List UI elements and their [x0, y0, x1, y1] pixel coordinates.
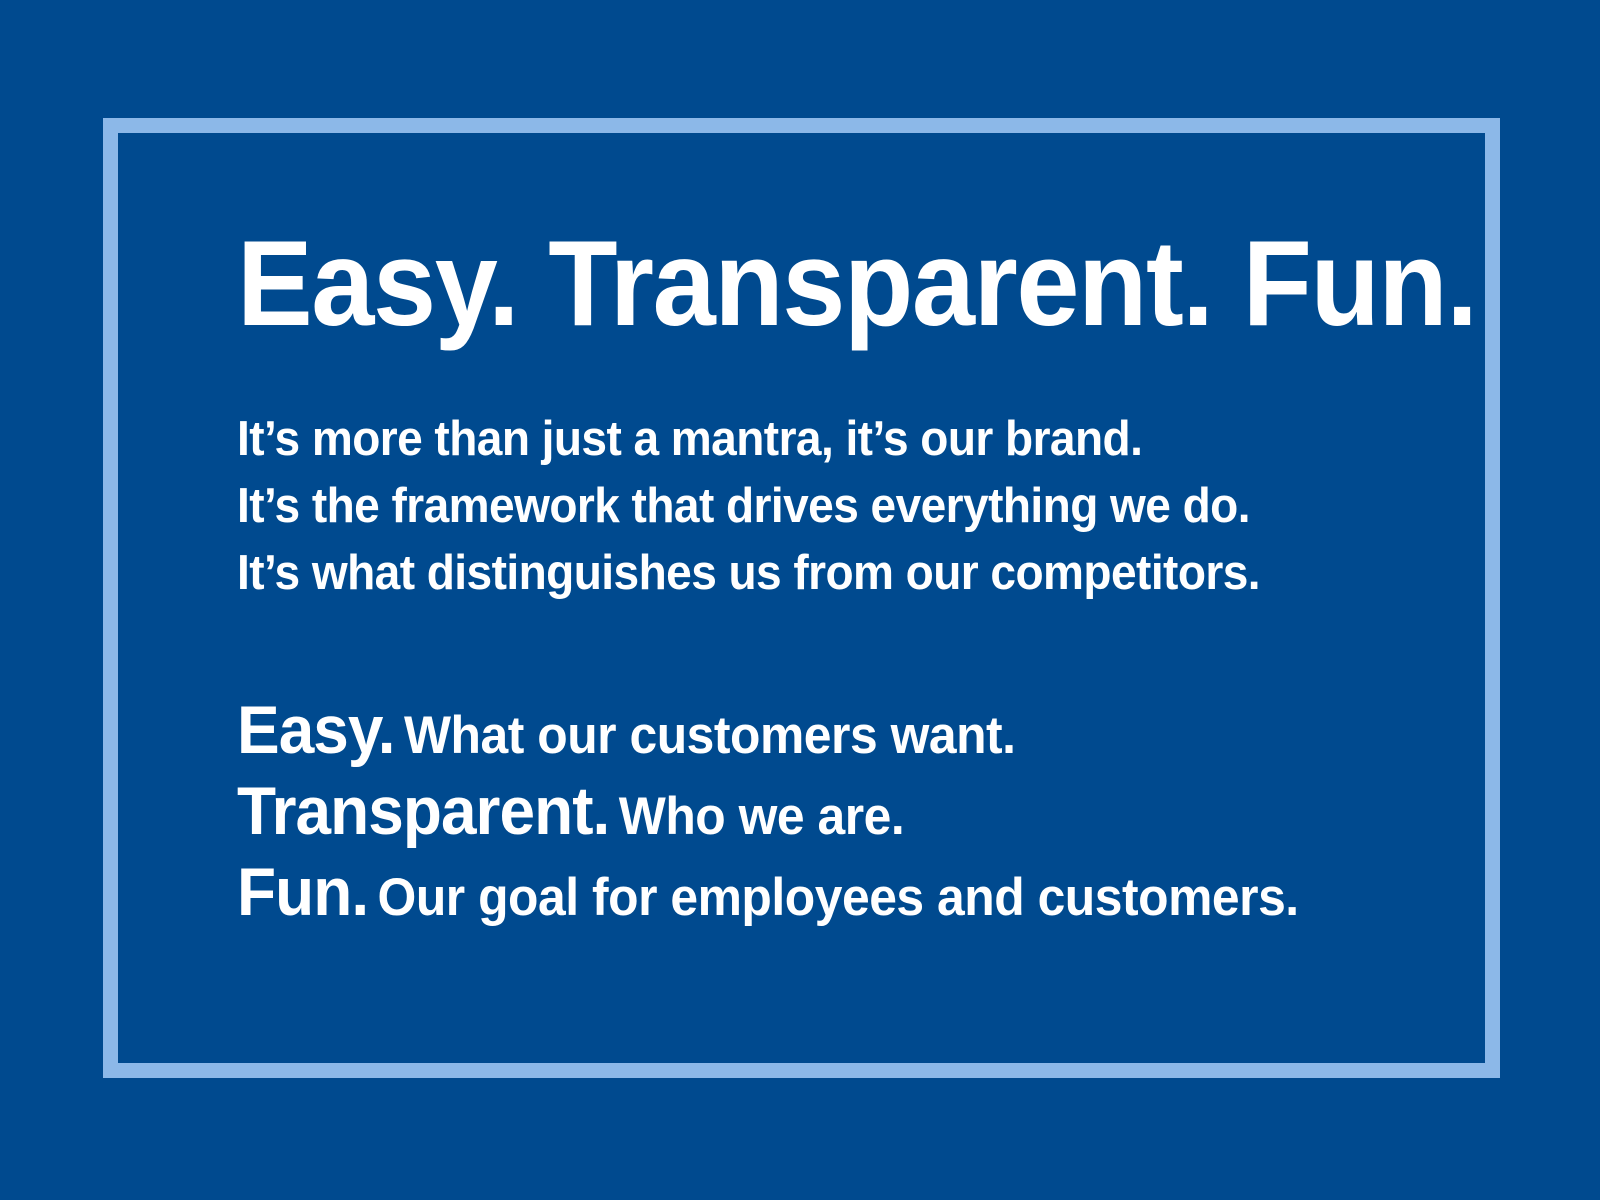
value-term-easy: Easy. — [237, 692, 395, 768]
brand-mantra-slide: Easy. Transparent. Fun. It’s more than j… — [0, 0, 1600, 1200]
value-statement-list: Easy.What our customers want. Transparen… — [237, 690, 1366, 933]
value-definition-easy: What our customers want. — [395, 706, 1016, 765]
intro-line-2: It’s the framework that drives everythin… — [237, 473, 1260, 540]
value-term-transparent: Transparent. — [237, 773, 609, 849]
value-statement-transparent: Transparent.Who we are. — [237, 771, 1299, 852]
intro-line-3: It’s what distinguishes us from our comp… — [237, 540, 1260, 607]
value-statement-fun: Fun.Our goal for employees and customers… — [237, 852, 1299, 933]
intro-line-1: It’s more than just a mantra, it’s our b… — [237, 406, 1260, 473]
intro-paragraph: It’s more than just a mantra, it’s our b… — [237, 406, 1260, 607]
value-term-fun: Fun. — [237, 854, 368, 930]
slide-headline: Easy. Transparent. Fun. — [237, 222, 1476, 344]
value-definition-fun: Our goal for employees and customers. — [368, 868, 1299, 927]
value-definition-transparent: Who we are. — [609, 787, 904, 846]
value-statement-easy: Easy.What our customers want. — [237, 690, 1299, 771]
slide-content: Easy. Transparent. Fun. It’s more than j… — [237, 118, 1437, 1078]
